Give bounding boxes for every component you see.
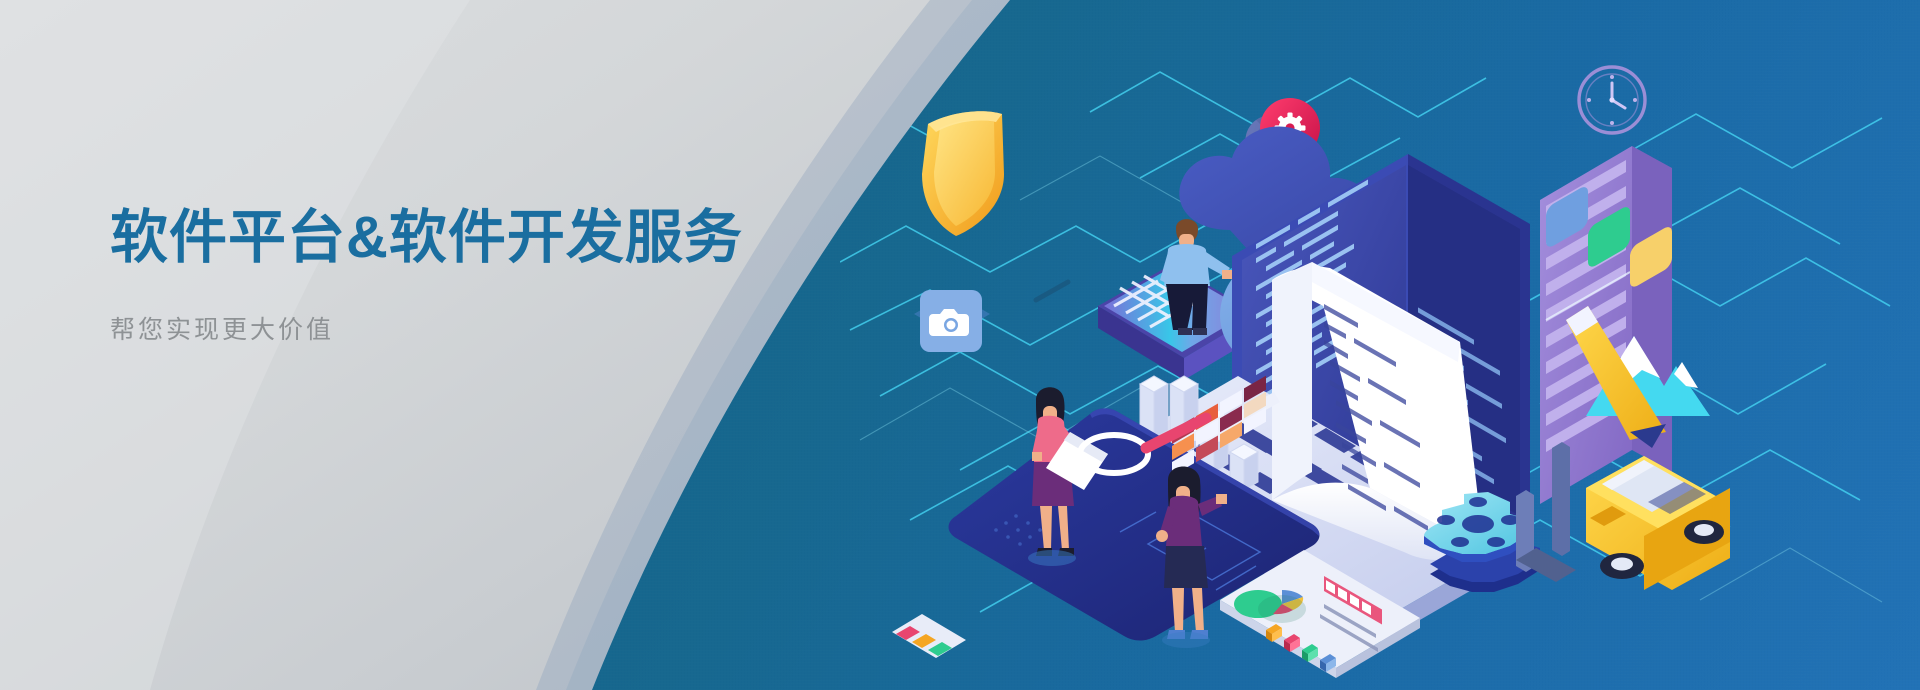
page-title: 软件平台&软件开发服务 (110, 205, 830, 271)
page-subtitle: 帮您实现更大价值 (110, 315, 830, 345)
clock-icon (1579, 67, 1645, 133)
hero-banner: 软件平台&软件开发服务 帮您实现更大价值 (0, 0, 1920, 690)
hero-text-block: 软件平台&软件开发服务 帮您实现更大价值 (110, 205, 830, 345)
